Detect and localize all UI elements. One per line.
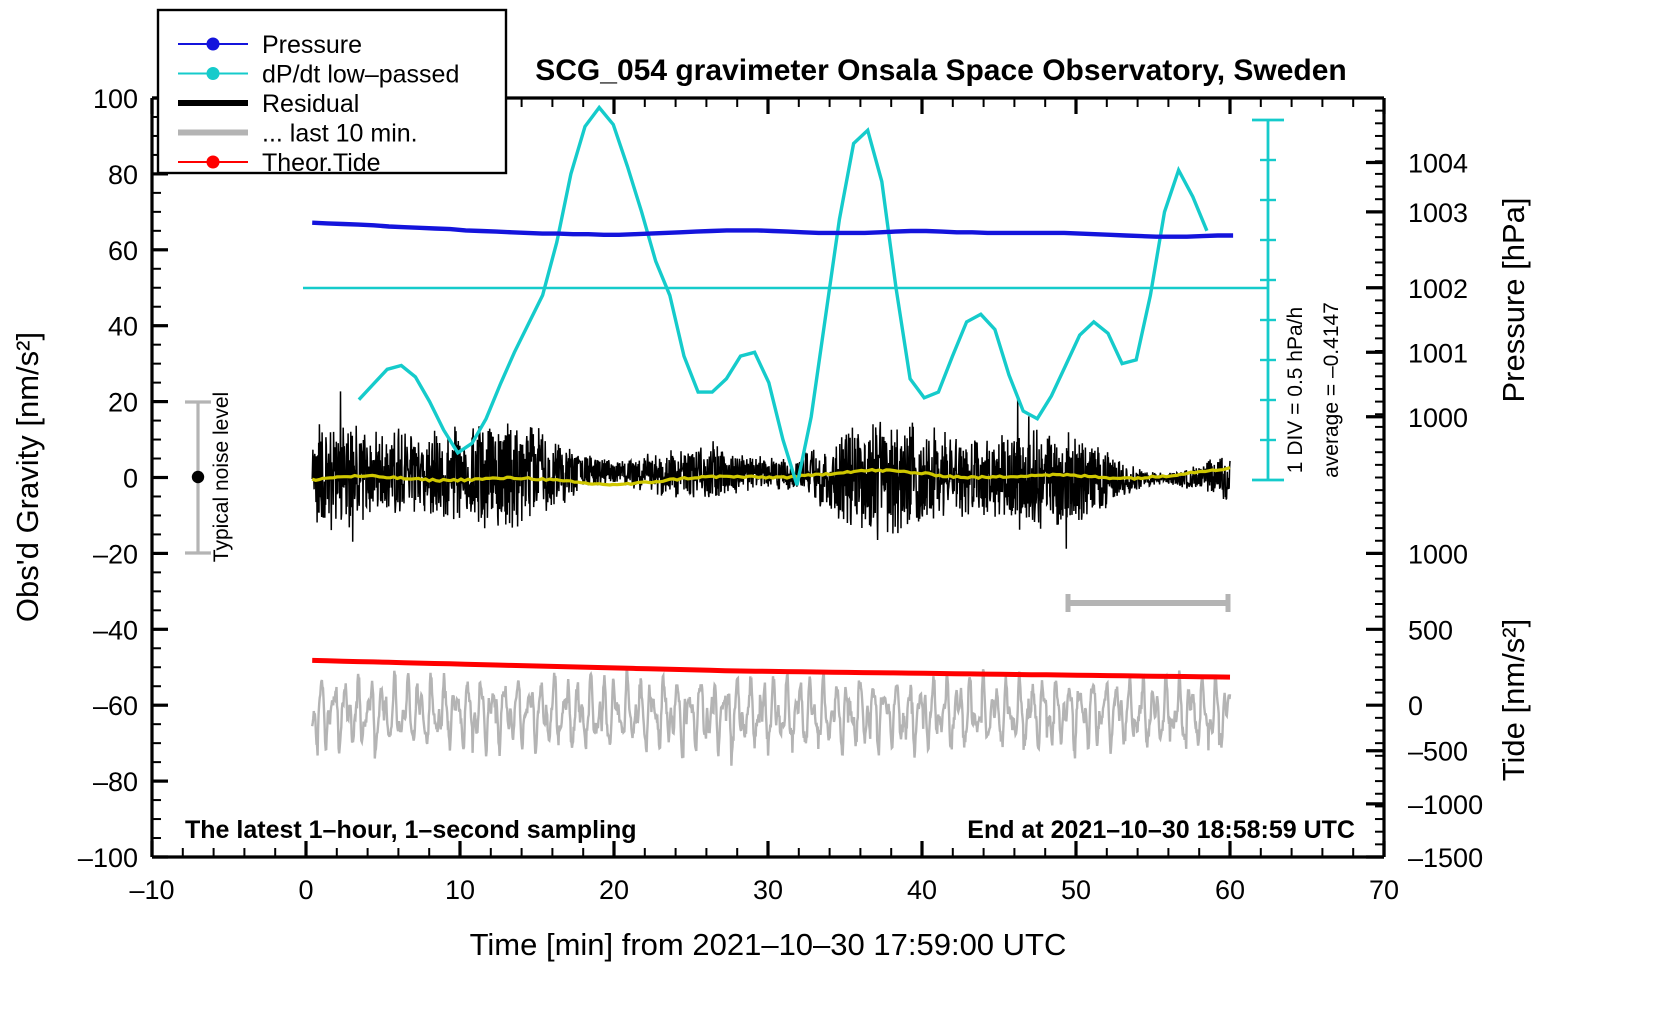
- svg-text:40: 40: [907, 875, 937, 905]
- legend-marker: [207, 156, 220, 169]
- legend-label: Pressure: [262, 31, 362, 59]
- svg-text:–40: –40: [93, 615, 138, 645]
- svg-text:10: 10: [445, 875, 475, 905]
- svg-text:–1000: –1000: [1408, 790, 1483, 820]
- svg-text:0: 0: [123, 464, 138, 494]
- svg-text:1004: 1004: [1408, 149, 1468, 179]
- svg-text:40: 40: [108, 312, 138, 342]
- legend: PressuredP/dt low–passedResidual... last…: [158, 10, 506, 177]
- svg-text:1000: 1000: [1408, 539, 1468, 569]
- svg-text:1000: 1000: [1408, 403, 1468, 433]
- scale-bar-div-label: 1 DIV = 0.5 hPa/h: [1284, 307, 1307, 473]
- svg-text:–60: –60: [93, 691, 138, 721]
- svg-text:0: 0: [1408, 691, 1423, 721]
- svg-text:–500: –500: [1408, 737, 1468, 767]
- svg-text:20: 20: [599, 875, 629, 905]
- svg-text:1001: 1001: [1408, 338, 1468, 368]
- svg-text:100: 100: [93, 84, 138, 114]
- plot-root: –10010203040506070 100806040200–20–40–60…: [0, 0, 1660, 1020]
- svg-text:–10: –10: [129, 875, 174, 905]
- svg-text:–100: –100: [78, 843, 138, 873]
- legend-label: ... last 10 min.: [262, 120, 418, 148]
- svg-text:1002: 1002: [1408, 274, 1468, 304]
- svg-text:30: 30: [753, 875, 783, 905]
- scale-bar-average-label: average = –0.4147: [1320, 302, 1343, 478]
- svg-text:0: 0: [298, 875, 313, 905]
- legend-marker: [207, 38, 220, 51]
- svg-text:60: 60: [108, 236, 138, 266]
- typical-noise-level-label: Typical noise level: [210, 392, 233, 562]
- tide-axis-title: Tide [nm/s²]: [1496, 619, 1531, 782]
- legend-label: Residual: [262, 90, 359, 118]
- svg-text:70: 70: [1369, 875, 1399, 905]
- svg-text:–80: –80: [93, 767, 138, 797]
- svg-text:50: 50: [1061, 875, 1091, 905]
- svg-text:20: 20: [108, 388, 138, 418]
- svg-text:1003: 1003: [1408, 198, 1468, 228]
- svg-text:–20: –20: [93, 539, 138, 569]
- page-title: SCG_054 gravimeter Onsala Space Observat…: [535, 54, 1347, 87]
- legend-label: dP/dt low–passed: [262, 61, 459, 89]
- bottom-left-note: The latest 1–hour, 1–second sampling: [185, 816, 637, 844]
- svg-text:60: 60: [1215, 875, 1245, 905]
- bottom-right-note: End at 2021–10–30 18:58:59 UTC: [967, 816, 1355, 844]
- gravimeter-plot: –10010203040506070 100806040200–20–40–60…: [0, 0, 1660, 1020]
- svg-text:–1500: –1500: [1408, 843, 1483, 873]
- legend-marker: [207, 67, 220, 80]
- x-axis-title: Time [min] from 2021–10–30 17:59:00 UTC: [470, 927, 1067, 962]
- y-axis-title: Obs'd Gravity [nm/s²]: [10, 332, 45, 622]
- svg-text:80: 80: [108, 160, 138, 190]
- pressure-axis-title: Pressure [hPa]: [1496, 197, 1531, 402]
- legend-label: Theor.Tide: [262, 149, 381, 177]
- svg-text:500: 500: [1408, 615, 1453, 645]
